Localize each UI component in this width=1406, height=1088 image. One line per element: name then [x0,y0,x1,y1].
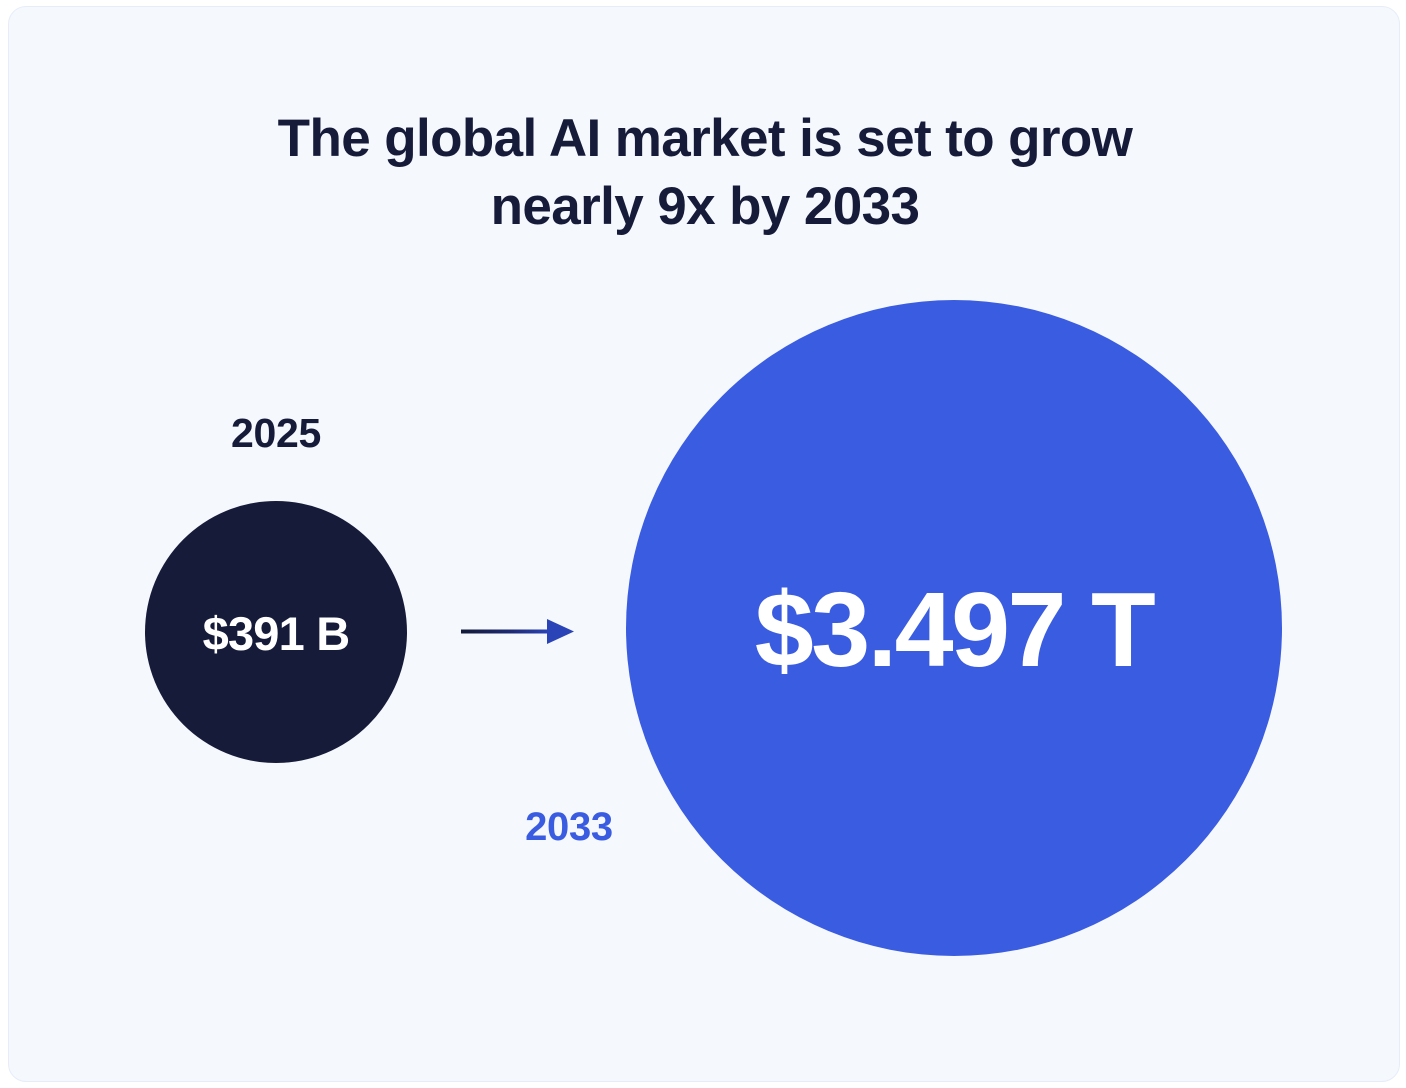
bubble-2025-value: $391 B [203,610,350,657]
page-title: The global AI market is set to grow near… [9,105,1400,241]
bubble-2033: $3.497 T [626,300,1282,956]
bubble-2033-value: $3.497 T [755,577,1153,683]
bubble-2025: $391 B [145,501,407,763]
infographic-card: The global AI market is set to grow near… [8,6,1400,1082]
year-label-2025: 2025 [160,410,392,457]
right-arrow-icon [457,611,583,653]
year-label-2033: 2033 [453,805,685,850]
